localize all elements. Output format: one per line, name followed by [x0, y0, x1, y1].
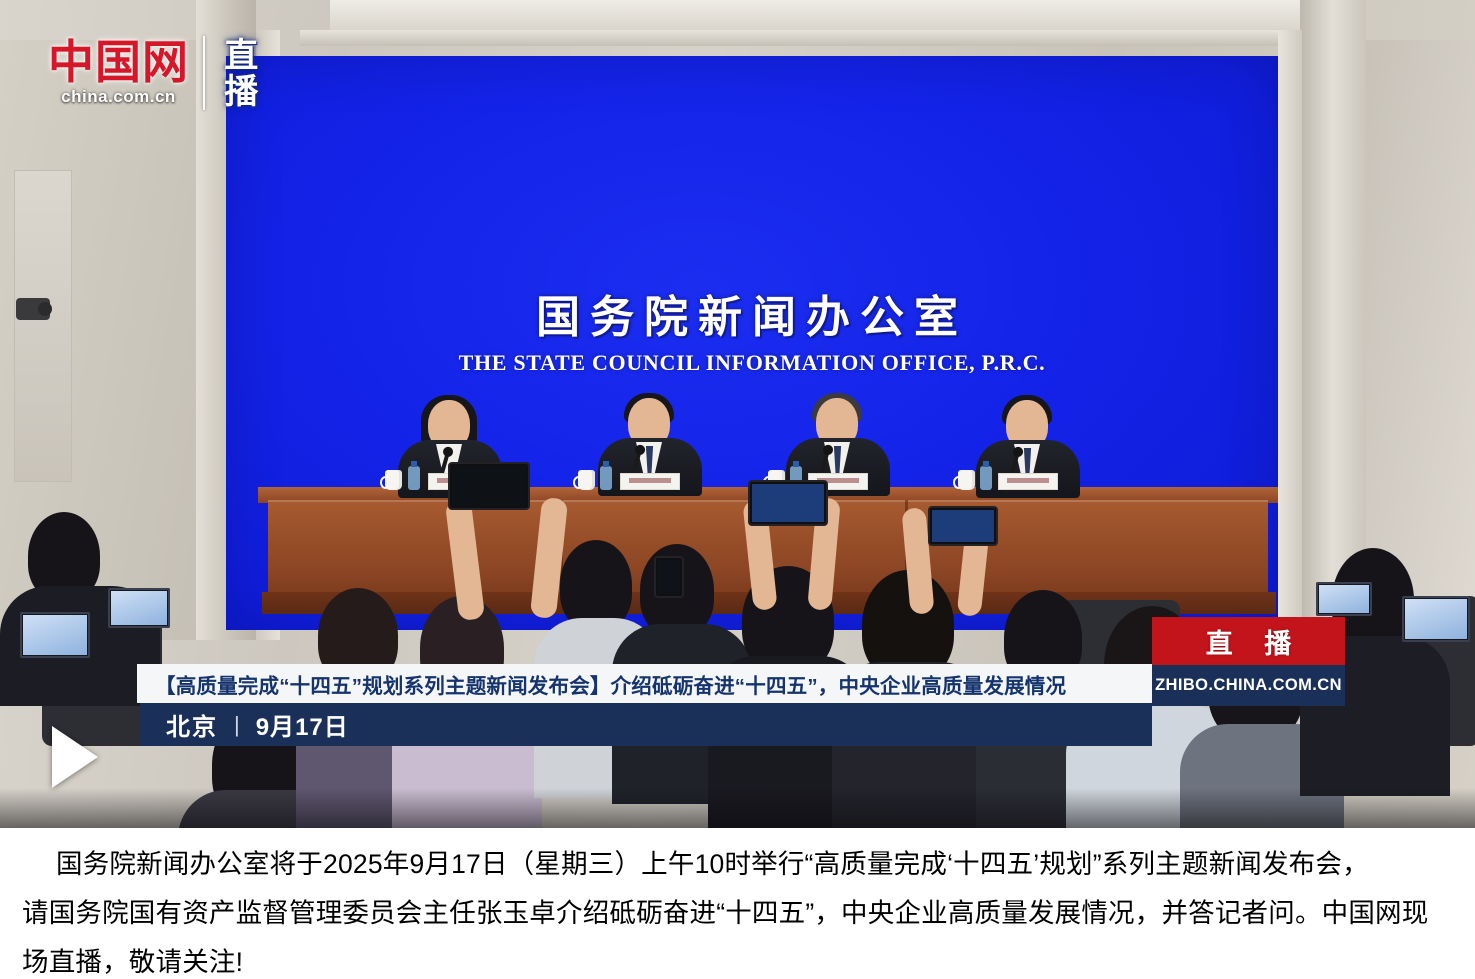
headline-text: 【高质量完成“十四五”规划系列主题新闻发布会】介绍砥砺奋进“十四五”，中央企业高…: [137, 669, 1066, 699]
caption-line-3: 场直播，敬请关注!: [22, 938, 1453, 979]
live-badge-label: 直 播: [1152, 617, 1345, 665]
ceiling-beam-lower: [300, 30, 1360, 46]
caption-block: 国务院新闻办公室将于2025年9月17日（星期三）上午10时举行“高质量完成‘十…: [0, 828, 1475, 979]
nameplate: [998, 473, 1058, 490]
watermark-url: china.com.cn: [48, 87, 189, 107]
screen-title: 国务院新闻办公室: [226, 281, 1278, 345]
pillar-right-trim: [1278, 30, 1302, 640]
water-bottle: [980, 466, 992, 490]
location-separator: |: [218, 712, 256, 738]
live-badge-url: ZHIBO.CHINA.COM.CN: [1152, 665, 1345, 706]
live-stream-page: 国务院新闻办公室 THE STATE COUNCIL INFORMATION O…: [0, 0, 1475, 979]
caption-line-2: 请国务院国有资产监督管理委员会主任张玉卓介绍砥砺奋进“十四五”，中央企业高质量发…: [22, 889, 1453, 938]
water-bottle: [408, 466, 420, 490]
phone-camera[interactable]: [448, 462, 530, 510]
live-badge: 直 播 ZHIBO.CHINA.COM.CN: [1152, 617, 1345, 706]
phone-camera[interactable]: [928, 506, 998, 546]
watermark: 中国网 china.com.cn 直播: [48, 36, 255, 110]
watermark-live-label: 直播: [219, 37, 255, 109]
teacup: [958, 470, 975, 490]
laptop: [20, 612, 90, 658]
nameplate: [620, 473, 680, 490]
china-net-logo-icon: 中国网 china.com.cn: [48, 39, 189, 107]
teacup: [578, 470, 595, 490]
pillar-right: [1300, 0, 1366, 640]
phone-camera[interactable]: [654, 556, 684, 598]
phone-camera[interactable]: [748, 480, 828, 526]
foreground-shadow: [0, 788, 1475, 828]
location-city: 北京: [140, 707, 218, 742]
screen-subtitle: THE STATE COUNCIL INFORMATION OFFICE, P.…: [226, 350, 1278, 376]
water-bottle: [600, 466, 612, 490]
watermark-divider: [203, 36, 205, 110]
teacup: [385, 470, 402, 490]
caption-line-1: 国务院新闻办公室将于2025年9月17日（星期三）上午10时举行“高质量完成‘十…: [22, 840, 1453, 889]
wall-inset-left: [14, 170, 72, 482]
play-triangle-icon[interactable]: [52, 726, 98, 788]
laptop: [1316, 582, 1372, 616]
laptop: [1402, 596, 1470, 642]
location-date: 9月17日: [256, 707, 349, 742]
audience-member: [560, 540, 632, 630]
location-date-bar: 北京 | 9月17日: [140, 703, 1152, 746]
video-player[interactable]: 国务院新闻办公室 THE STATE COUNCIL INFORMATION O…: [0, 0, 1475, 828]
security-camera-icon: [16, 298, 50, 320]
headline-bar: 【高质量完成“十四五”规划系列主题新闻发布会】介绍砥砺奋进“十四五”，中央企业高…: [137, 664, 1152, 703]
watermark-logo-text: 中国网: [48, 39, 189, 85]
laptop: [108, 588, 170, 628]
